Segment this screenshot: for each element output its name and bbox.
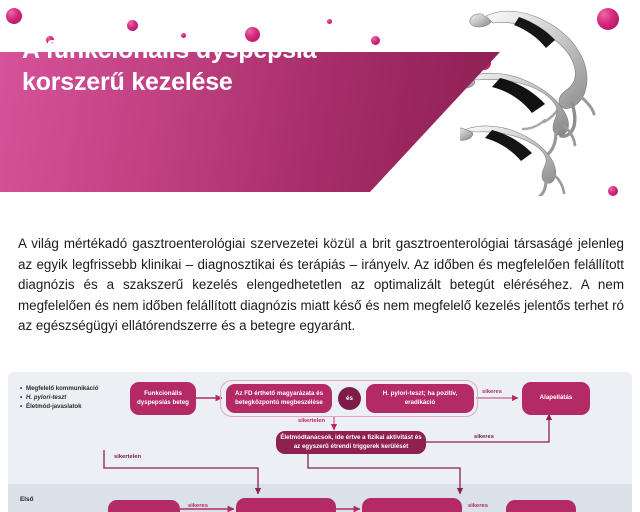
page-root: A funkcionális dyspepsia korszerű kezelé…	[0, 0, 640, 512]
node-bottom-mid[interactable]	[236, 498, 336, 512]
node-bottom-right[interactable]	[362, 498, 462, 512]
node-primary-care[interactable]: Alapellátás	[522, 382, 590, 415]
decorative-sphere	[6, 8, 22, 24]
flowchart-bullet-list: Megfelelő kommunikáció H. pylori-teszt É…	[20, 384, 140, 412]
node-hpylori[interactable]: H. pylori-teszt; ha pozitív, eradikáció	[366, 384, 474, 413]
edge-label-success-4: sikeres	[468, 503, 488, 509]
hero-banner: A funkcionális dyspepsia korszerű kezelé…	[0, 0, 640, 196]
divers-illustration	[460, 0, 640, 196]
edge-label-fail-1: sikertelen	[298, 418, 325, 424]
page-title-line2: korszerű kezelése	[22, 66, 442, 98]
treatment-flowchart: Megfelelő kommunikáció H. pylori-teszt É…	[8, 372, 632, 512]
divers-svg	[460, 0, 640, 196]
edge-label-fail-2: sikertelen	[114, 454, 141, 460]
node-bottom-far-right[interactable]	[506, 500, 576, 512]
intro-paragraph: A világ mértékadó gasztroenterológiai sz…	[18, 234, 624, 337]
list-item: Megfelelő kommunikáció	[20, 384, 140, 393]
edge-label-success-2: sikeres	[474, 434, 494, 440]
node-patient[interactable]: Funkcionális dyspepsiás beteg	[130, 382, 196, 415]
diver-figure	[460, 126, 564, 196]
list-item: Életmód-javaslatok	[20, 402, 140, 411]
node-lifestyle[interactable]: Életmódtanácsok, ide értve a fizikai akt…	[276, 431, 426, 454]
edge-label-success-3: sikeres	[188, 503, 208, 509]
decorative-sphere	[327, 19, 332, 24]
node-explain[interactable]: Az FD érthető magyarázata és betegközpon…	[226, 384, 332, 413]
edge-label-success-1: sikeres	[482, 389, 502, 395]
page-title: A funkcionális dyspepsia korszerű kezelé…	[22, 34, 442, 98]
decorative-sphere	[127, 20, 138, 31]
page-title-line1: A funkcionális dyspepsia	[22, 34, 442, 66]
list-item: H. pylori-teszt	[20, 393, 140, 402]
node-bottom-left[interactable]	[108, 500, 180, 512]
node-conjunction: és	[338, 387, 361, 410]
flowchart-zone-bottom-label: Első	[20, 496, 34, 503]
